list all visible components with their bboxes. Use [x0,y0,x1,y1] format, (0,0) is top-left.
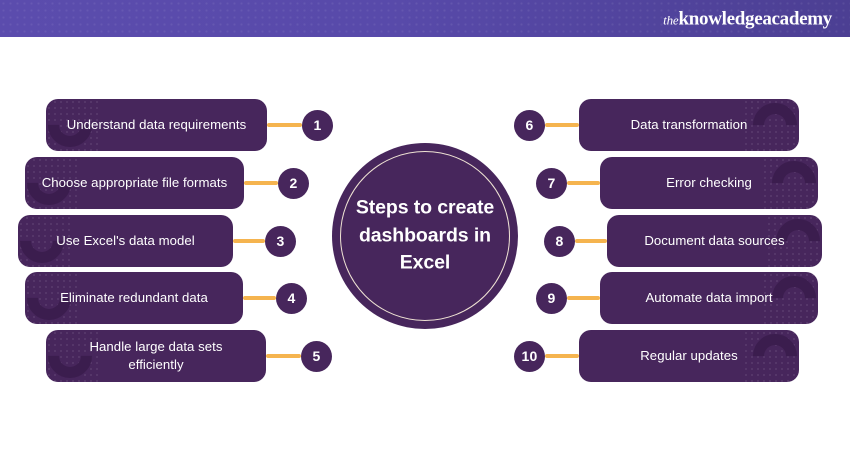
step-connector-6 [545,123,579,127]
step-row-7: 7 Error checking [536,157,818,209]
step-label-4: Eliminate redundant data [46,289,222,307]
step-pill-9[interactable]: Automate data import [600,272,818,324]
step-pill-3[interactable]: Use Excel's data model [18,215,233,267]
step-number-3[interactable]: 3 [265,226,296,257]
step-number-1[interactable]: 1 [302,110,333,141]
step-label-3: Use Excel's data model [42,232,209,250]
step-number-9[interactable]: 9 [536,283,567,314]
step-label-5: Handle large data sets efficiently [46,338,266,374]
pill-swoosh-decoration [763,157,818,209]
step-label-7: Error checking [652,174,766,192]
step-connector-2 [244,181,278,185]
center-circle: Steps to create dashboards in Excel [332,143,518,329]
brand-name-text: knowledgeacademy [678,8,832,29]
step-label-1: Understand data requirements [53,116,261,134]
step-row-3: Use Excel's data model 3 [18,215,296,267]
step-number-2[interactable]: 2 [278,168,309,199]
step-number-7[interactable]: 7 [536,168,567,199]
step-connector-4 [243,296,276,300]
step-row-6: 6 Data transformation [514,99,799,151]
step-row-8: 8 Document data sources [544,215,822,267]
step-number-4[interactable]: 4 [276,283,307,314]
step-label-9: Automate data import [631,289,786,307]
step-connector-10 [545,354,579,358]
step-pill-5[interactable]: Handle large data sets efficiently [46,330,266,382]
step-number-6[interactable]: 6 [514,110,545,141]
step-number-8[interactable]: 8 [544,226,575,257]
step-label-10: Regular updates [626,347,752,365]
step-pill-7[interactable]: Error checking [600,157,818,209]
step-row-2: Choose appropriate file formats 2 [25,157,309,209]
step-connector-7 [567,181,600,185]
step-label-6: Data transformation [617,116,762,134]
pill-dot-texture [762,157,818,209]
step-row-10: 10 Regular updates [514,330,799,382]
step-connector-8 [575,239,607,243]
step-pill-8[interactable]: Document data sources [607,215,822,267]
step-pill-4[interactable]: Eliminate redundant data [25,272,243,324]
step-pill-2[interactable]: Choose appropriate file formats [25,157,244,209]
step-pill-1[interactable]: Understand data requirements [46,99,267,151]
step-connector-1 [267,123,302,127]
step-label-2: Choose appropriate file formats [28,174,242,192]
step-row-5: Handle large data sets efficiently 5 [46,330,332,382]
pill-swoosh-decoration [744,330,799,382]
header-bar: theknowledgeacademy [0,0,850,37]
step-label-8: Document data sources [630,232,798,250]
step-connector-5 [266,354,301,358]
step-number-10[interactable]: 10 [514,341,545,372]
step-pill-10[interactable]: Regular updates [579,330,799,382]
step-row-4: Eliminate redundant data 4 [25,272,307,324]
page-title: Steps to create dashboards in Excel [348,194,502,277]
step-row-9: 9 Automate data import [536,272,818,324]
infographic-canvas: theknowledgeacademy Steps to create dash… [0,0,850,450]
step-connector-9 [567,296,600,300]
brand-logo: theknowledgeacademy [663,9,832,28]
step-connector-3 [233,239,265,243]
step-pill-6[interactable]: Data transformation [579,99,799,151]
step-row-1: Understand data requirements 1 [46,99,333,151]
brand-prefix-text: the [663,12,678,27]
step-number-5[interactable]: 5 [301,341,332,372]
